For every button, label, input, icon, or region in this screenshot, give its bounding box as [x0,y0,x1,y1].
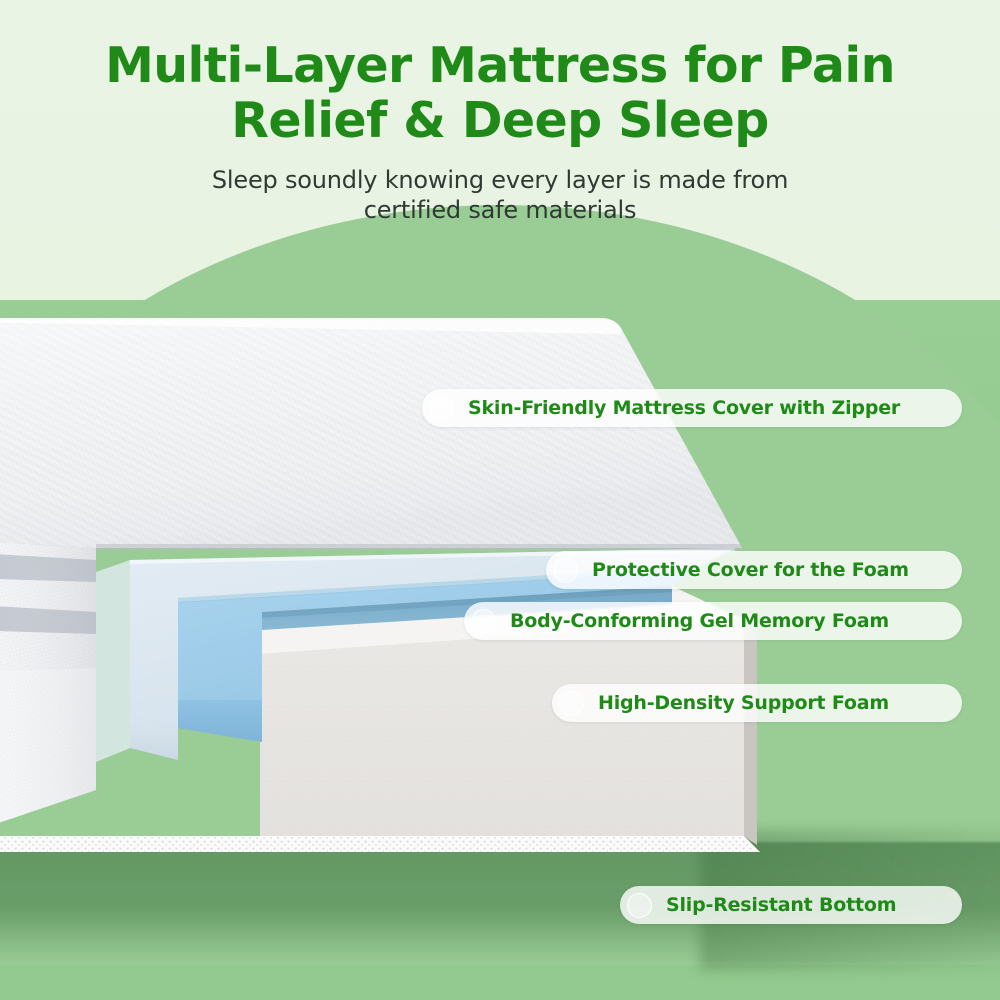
page-subtitle-line-1: Sleep soundly knowing every layer is mad… [0,165,1000,195]
page-subtitle: Sleep soundly knowing every layer is mad… [0,165,1000,225]
callout-label: Protective Cover for the Foam [592,559,909,581]
mattress-side-panel [0,540,96,836]
header-block: Multi-Layer Mattress for Pain Relief & D… [0,0,1000,225]
layer-marker-dot-icon [559,691,584,716]
callout-label: Slip-Resistant Bottom [666,894,896,916]
layer-marker-dot-icon [627,893,652,918]
callout-slip-resistant-bottom[interactable]: Slip-Resistant Bottom [620,886,962,924]
callout-label: Body-Conforming Gel Memory Foam [510,610,889,632]
callout-gel-memory-foam[interactable]: Body-Conforming Gel Memory Foam [464,602,962,640]
page-subtitle-line-2: certified safe materials [0,195,1000,225]
page-title-line-1: Multi-Layer Mattress for Pain [0,38,1000,93]
infographic-stage: Multi-Layer Mattress for Pain Relief & D… [0,0,1000,1000]
layer-marker-dot-icon [553,558,578,583]
callout-label: High-Density Support Foam [598,692,889,714]
page-title: Multi-Layer Mattress for Pain Relief & D… [0,0,1000,148]
callout-label: Skin-Friendly Mattress Cover with Zipper [468,397,900,419]
layer-marker-dot-icon [429,396,454,421]
callout-skin-friendly-cover[interactable]: Skin-Friendly Mattress Cover with Zipper [422,389,962,427]
skin-friendly-top-cover [0,318,742,550]
callout-protective-cover[interactable]: Protective Cover for the Foam [546,551,962,589]
callout-support-foam[interactable]: High-Density Support Foam [552,684,962,722]
layer-marker-dot-icon [471,609,496,634]
slip-resistant-bottom-layer [0,836,760,852]
page-title-line-2: Relief & Deep Sleep [0,93,1000,148]
